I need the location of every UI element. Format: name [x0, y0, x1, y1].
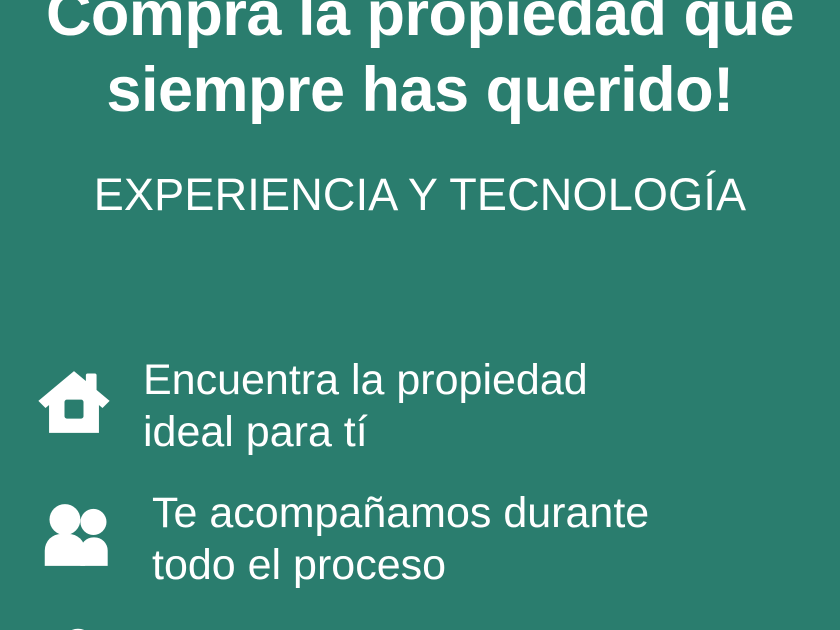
- feature-line-2: ideal para tí: [143, 406, 840, 458]
- house-icon: [34, 364, 114, 440]
- person-icon: [40, 618, 116, 630]
- feature-line-1: Te acompañamos durante: [152, 487, 840, 539]
- feature-item-support: Te acompañamos durante todo el proceso: [0, 485, 840, 618]
- feature-item-partial-label: [152, 618, 840, 620]
- people-icon: [40, 497, 116, 573]
- subtitle: EXPERIENCIA Y TECNOLOGÍA: [0, 168, 840, 222]
- feature-line-2: todo el proceso: [152, 539, 840, 591]
- feature-line-1: Encuentra la propiedad: [143, 354, 840, 406]
- feature-item-property: Encuentra la propiedad ideal para tí: [0, 352, 840, 485]
- feature-item-support-label: Te acompañamos durante todo el proceso: [152, 485, 840, 591]
- headline-line-1: Compra la propiedad que: [0, 0, 840, 52]
- feature-list: Encuentra la propiedad ideal para tí Te …: [0, 352, 840, 630]
- feature-item-property-label: Encuentra la propiedad ideal para tí: [143, 352, 840, 458]
- headline-line-2: siempre has querido!: [0, 52, 840, 128]
- feature-item-partial: [0, 618, 840, 630]
- headline: Compra la propiedad que siempre has quer…: [0, 0, 840, 128]
- promo-poster: Compra la propiedad que siempre has quer…: [0, 0, 840, 630]
